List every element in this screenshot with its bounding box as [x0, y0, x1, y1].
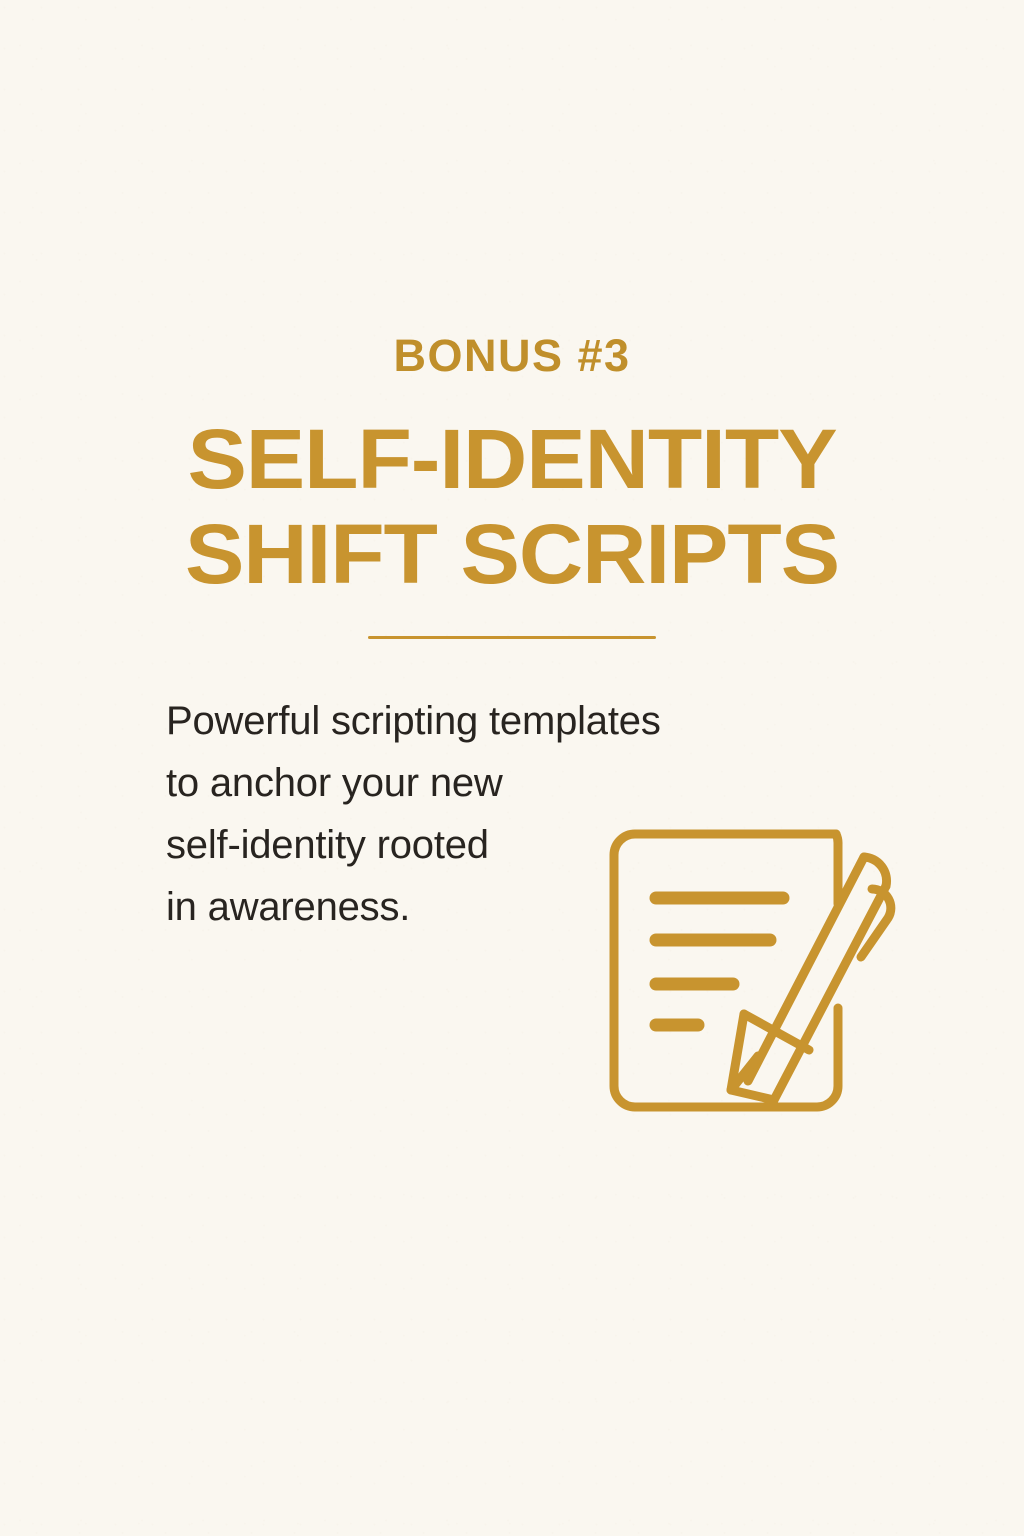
page-title-line-1: SELF-IDENTITY: [0, 412, 1024, 507]
document-with-pen-icon: [598, 818, 904, 1124]
bonus-offer-card: BONUS #3 SELF-IDENTITY SHIFT SCRIPTS Pow…: [0, 0, 1024, 1536]
page-title: SELF-IDENTITY SHIFT SCRIPTS: [0, 412, 1024, 602]
document-text-lines: [656, 898, 783, 1025]
page-title-line-2: SHIFT SCRIPTS: [0, 507, 1024, 602]
bonus-kicker-label: BONUS #3: [0, 333, 1024, 378]
description-line-1: Powerful scripting templates: [166, 690, 806, 752]
description-line-2: to anchor your new: [166, 752, 806, 814]
title-divider: [368, 636, 656, 639]
